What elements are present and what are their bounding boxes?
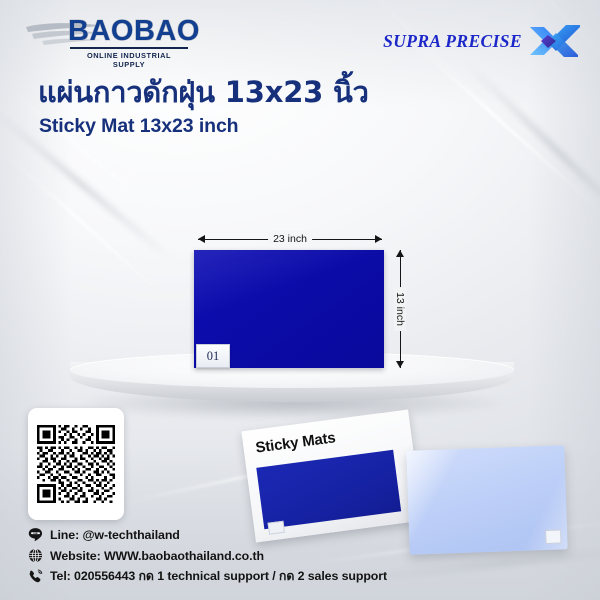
contact-website-text: Website: WWW.baobaothailand.co.th — [50, 549, 264, 563]
globe-icon — [28, 548, 43, 563]
height-dimension-label: 13 inch — [394, 287, 406, 331]
contact-row-phone[interactable]: Tel: 020556443 กด 1 technical support / … — [28, 566, 448, 587]
product-photo-package: Sticky Mats — [241, 410, 422, 543]
arrow-down-icon — [396, 361, 404, 368]
contact-phone-text: Tel: 020556443 กด 1 technical support / … — [50, 567, 387, 586]
mat-sheet-number-tab: 01 — [196, 344, 230, 368]
svg-text:LINE: LINE — [33, 533, 38, 535]
contact-info: LINE Line: @w-techthailand Website: WWW.… — [28, 524, 448, 587]
package-blue-mat — [256, 450, 401, 529]
baobao-tagline: ONLINE INDUSTRIAL SUPPLY — [70, 47, 188, 69]
baobao-wordmark: BAOBAO — [68, 17, 200, 46]
header: BAOBAO ONLINE INDUSTRIAL SUPPLY SUPRA PR… — [0, 0, 600, 72]
width-dimension-label: 23 inch — [268, 231, 312, 247]
arrow-up-icon — [396, 250, 404, 257]
x-chevron-logo-icon — [528, 21, 582, 61]
qr-code-card[interactable] — [28, 408, 124, 520]
contact-line-text: Line: @w-techthailand — [50, 528, 180, 542]
supra-precise-wordmark: SUPRA PRECISE — [383, 31, 522, 52]
product-banner: BAOBAO ONLINE INDUSTRIAL SUPPLY SUPRA PR… — [0, 0, 600, 600]
baobao-logo[interactable]: BAOBAO ONLINE INDUSTRIAL SUPPLY — [22, 14, 188, 62]
page-title-thai: แผ่นกาวดักฝุ่น 13x23 นิ้ว — [38, 78, 369, 107]
package-label: Sticky Mats — [255, 429, 337, 456]
arrow-left-icon — [198, 235, 205, 243]
qr-code — [37, 425, 115, 503]
height-dimension: 13 inch — [392, 250, 408, 368]
line-chat-icon: LINE — [28, 527, 43, 542]
phone-ring-icon — [28, 569, 43, 584]
width-dimension: 23 inch — [198, 231, 382, 247]
contact-row-website[interactable]: Website: WWW.baobaothailand.co.th — [28, 545, 448, 566]
contact-row-line[interactable]: LINE Line: @w-techthailand — [28, 524, 448, 545]
arrow-right-icon — [375, 235, 382, 243]
supra-precise-logo[interactable]: SUPRA PRECISE — [383, 20, 582, 62]
page-title-english: Sticky Mat 13x23 inch — [39, 117, 239, 137]
wrap-number-tab — [545, 529, 561, 544]
